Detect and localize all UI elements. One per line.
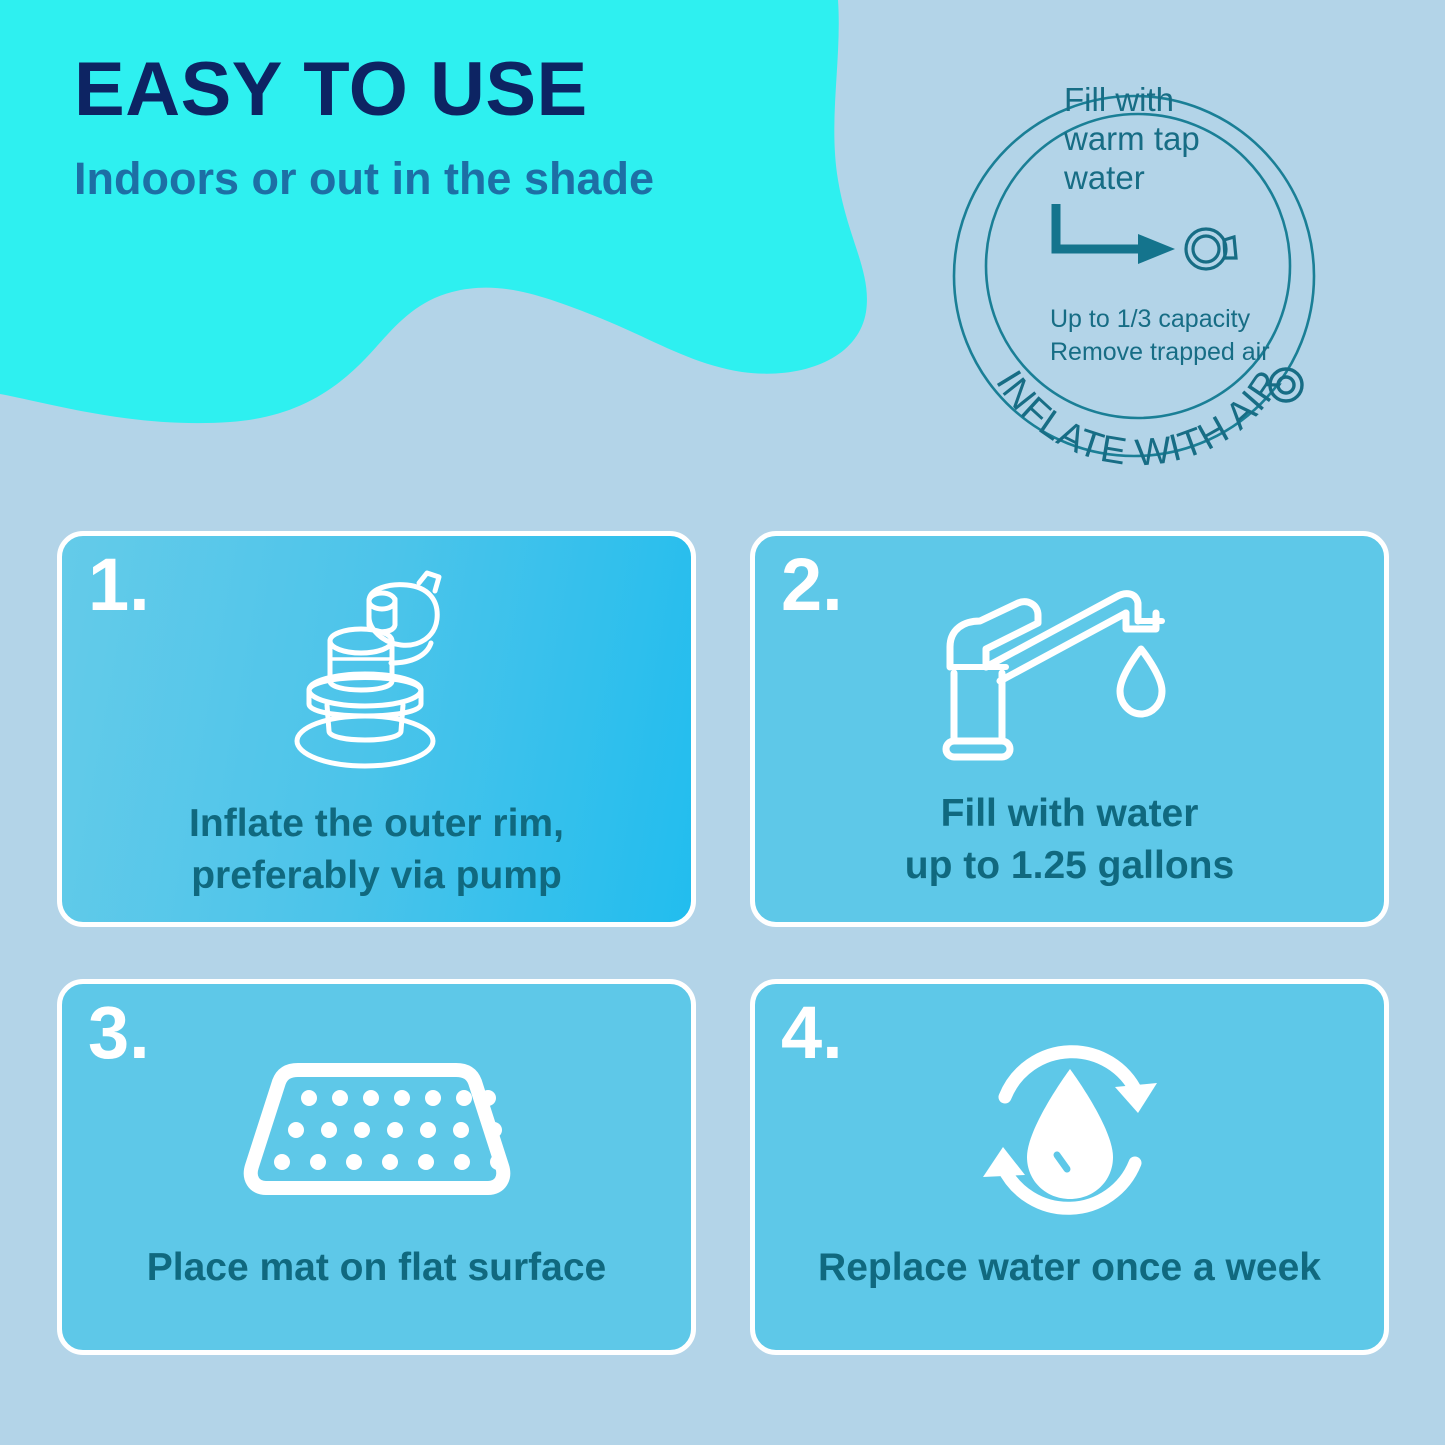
badge-line-2: warm tap	[1063, 120, 1200, 157]
badge-note-2: Remove trapped air	[1050, 338, 1270, 366]
page-subtitle: Indoors or out in the shade	[74, 156, 854, 201]
inflate-with-air-badge: Fill with warm tap water Up to 1/3 capac…	[938, 44, 1338, 504]
step-card-3[interactable]: 3.	[57, 979, 696, 1355]
step-caption-4-line-1: Replace water once a week	[773, 1242, 1366, 1294]
header-block: EASY TO USE Indoors or out in the shade	[74, 52, 854, 201]
steps-grid: 1.	[57, 531, 1389, 1355]
arrow-right-icon	[1056, 204, 1175, 264]
step-card-2[interactable]: 2. Fill with water up to	[750, 531, 1389, 927]
faucet-water-drop-icon	[755, 572, 1384, 772]
step-caption-1-line-1: Inflate the outer rim,	[80, 798, 673, 850]
valve-cap-icon	[1186, 229, 1236, 269]
page-title: EASY TO USE	[74, 52, 854, 128]
step-caption-1: Inflate the outer rim, preferably via pu…	[62, 798, 691, 902]
step-card-4[interactable]: 4. Replace water once a week	[750, 979, 1389, 1355]
step-caption-4: Replace water once a week	[755, 1242, 1384, 1294]
inflation-valve-icon	[62, 560, 691, 780]
mat-dots	[274, 1090, 506, 1170]
step-caption-3-line-1: Place mat on flat surface	[80, 1242, 673, 1294]
badge-line-3: water	[1063, 159, 1145, 196]
step-card-1[interactable]: 1.	[57, 531, 696, 927]
step-caption-3: Place mat on flat surface	[62, 1242, 691, 1294]
badge-note-1: Up to 1/3 capacity	[1050, 305, 1251, 333]
step-caption-2-line-1: Fill with water	[773, 788, 1366, 840]
badge-line-1: Fill with	[1064, 81, 1174, 118]
step-caption-2: Fill with water up to 1.25 gallons	[755, 788, 1384, 892]
step-caption-1-line-2: preferably via pump	[80, 850, 673, 902]
water-recycle-icon	[755, 1030, 1384, 1230]
step-caption-2-line-2: up to 1.25 gallons	[773, 840, 1366, 892]
dotted-mat-icon	[62, 1044, 691, 1214]
